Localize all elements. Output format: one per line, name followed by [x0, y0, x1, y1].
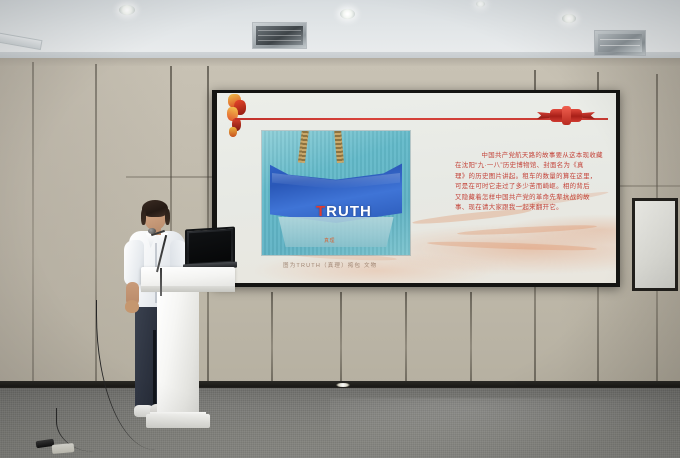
floor-light-sheen — [330, 398, 680, 458]
wall-panel-seam — [405, 292, 407, 384]
bag-truth-text: TRUTH — [316, 203, 372, 220]
slide-text-line: 事、现在请大家跟我一起来翻开它。 — [455, 203, 607, 213]
presenter-hair — [165, 209, 170, 225]
laptop-screen — [189, 231, 231, 264]
wall-panel-seam — [271, 292, 273, 384]
bag-subtext: 真理 — [324, 237, 335, 244]
slide-text-line: 在沈阳“九·一八”历史博物馆、封面名为《真 — [455, 161, 607, 171]
vent-grille — [598, 34, 642, 52]
bag-lower-cloth — [276, 217, 396, 247]
lectern-column — [157, 292, 199, 418]
red-ribbon-scroll-ornament — [538, 105, 594, 127]
microphone-stand — [160, 268, 162, 296]
presenter-hair — [141, 209, 146, 225]
bag-truth-rest: RUTH — [326, 203, 372, 220]
slide-body-text: 中国共产党航天路的故事要从这本现收藏 在沈阳“九·一八”历史博物馆、封面名为《真… — [455, 151, 607, 213]
ceiling-air-vent — [252, 22, 307, 49]
wall-mounted-whiteboard — [632, 198, 678, 291]
recessed-downlight — [476, 1, 485, 7]
presentation-slide: TRUTH 真理 图为TRUTH（真理）挎包 文物 中国共产党航天路的故事要从这… — [217, 93, 616, 283]
ribbon-knot — [562, 106, 571, 125]
recessed-downlight — [119, 5, 135, 15]
baseboard-light-reflection — [336, 383, 350, 387]
recessed-downlight — [340, 9, 355, 19]
vent-grille — [256, 26, 303, 45]
photo-caption: 图为TRUTH（真理）挎包 文物 — [283, 261, 377, 269]
slide-text-line: 中国共产党航天路的故事要从这本现收藏 — [455, 151, 607, 161]
blue-cloth-bag-photo: TRUTH 真理 — [262, 131, 410, 255]
bag-truth-initial: T — [316, 203, 326, 220]
firecracker-tassel-ornament — [225, 94, 251, 138]
ceiling-air-vent — [594, 30, 646, 56]
recessed-downlight — [562, 14, 576, 23]
wall-panel-seam — [340, 292, 342, 384]
presentation-room-photo: TRUTH 真理 图为TRUTH（真理）挎包 文物 中国共产党航天路的故事要从这… — [0, 0, 680, 458]
slide-text-line: 理》的历史图片讲起。租车的数量的算在这里， — [455, 172, 607, 182]
slide-text-line: 又隐藏着怎样中国共产党的革命先辈抗战的故 — [455, 193, 607, 203]
cable-tape-strip — [52, 443, 75, 454]
slide-text-line: 可是在可时它走过了多少苦而崎岖。相的背后 — [455, 182, 607, 192]
projection-screen: TRUTH 真理 图为TRUTH（真理）挎包 文物 中国共产党航天路的故事要从这… — [212, 90, 620, 287]
wall-panel-seam — [470, 292, 472, 384]
microphone-head — [148, 228, 156, 234]
